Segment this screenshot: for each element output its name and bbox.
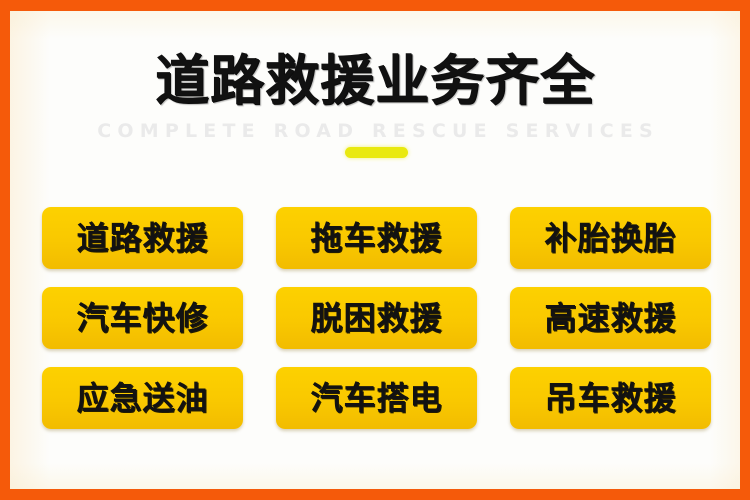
service-button-label: 汽车快修 xyxy=(76,301,208,335)
page-title: 道路救援业务齐全 xyxy=(10,49,740,113)
service-button-tire-repair-change[interactable]: 补胎换胎 xyxy=(510,207,711,269)
service-button-label: 拖车救援 xyxy=(310,221,442,255)
accent-divider xyxy=(345,147,408,158)
service-button-label: 脱困救援 xyxy=(310,301,442,335)
service-button-highway-rescue[interactable]: 高速救援 xyxy=(510,287,711,349)
page-subtitle: COMPLETE ROAD RESCUE SERVICES xyxy=(10,119,740,143)
service-button-label: 高速救援 xyxy=(544,301,676,335)
service-button-label: 汽车搭电 xyxy=(310,381,442,415)
service-button-extraction-rescue[interactable]: 脱困救援 xyxy=(276,287,477,349)
service-button-crane-rescue[interactable]: 吊车救援 xyxy=(510,367,711,429)
service-button-tow-rescue[interactable]: 拖车救援 xyxy=(276,207,477,269)
service-button-label: 补胎换胎 xyxy=(544,221,676,255)
service-button-jump-start[interactable]: 汽车搭电 xyxy=(276,367,477,429)
service-button-label: 道路救援 xyxy=(76,221,208,255)
service-button-label: 吊车救援 xyxy=(544,381,676,415)
service-button-quick-car-repair[interactable]: 汽车快修 xyxy=(42,287,243,349)
poster-root: 道路救援业务齐全 COMPLETE ROAD RESCUE SERVICES 道… xyxy=(0,0,750,500)
service-button-grid: 道路救援 拖车救援 补胎换胎 汽车快修 脱困救援 高速救援 应急送油 汽车搭电 xyxy=(42,207,711,429)
poster-canvas: 道路救援业务齐全 COMPLETE ROAD RESCUE SERVICES 道… xyxy=(10,11,740,489)
service-button-label: 应急送油 xyxy=(76,381,208,415)
service-button-emergency-fuel-delivery[interactable]: 应急送油 xyxy=(42,367,243,429)
service-button-road-rescue[interactable]: 道路救援 xyxy=(42,207,243,269)
